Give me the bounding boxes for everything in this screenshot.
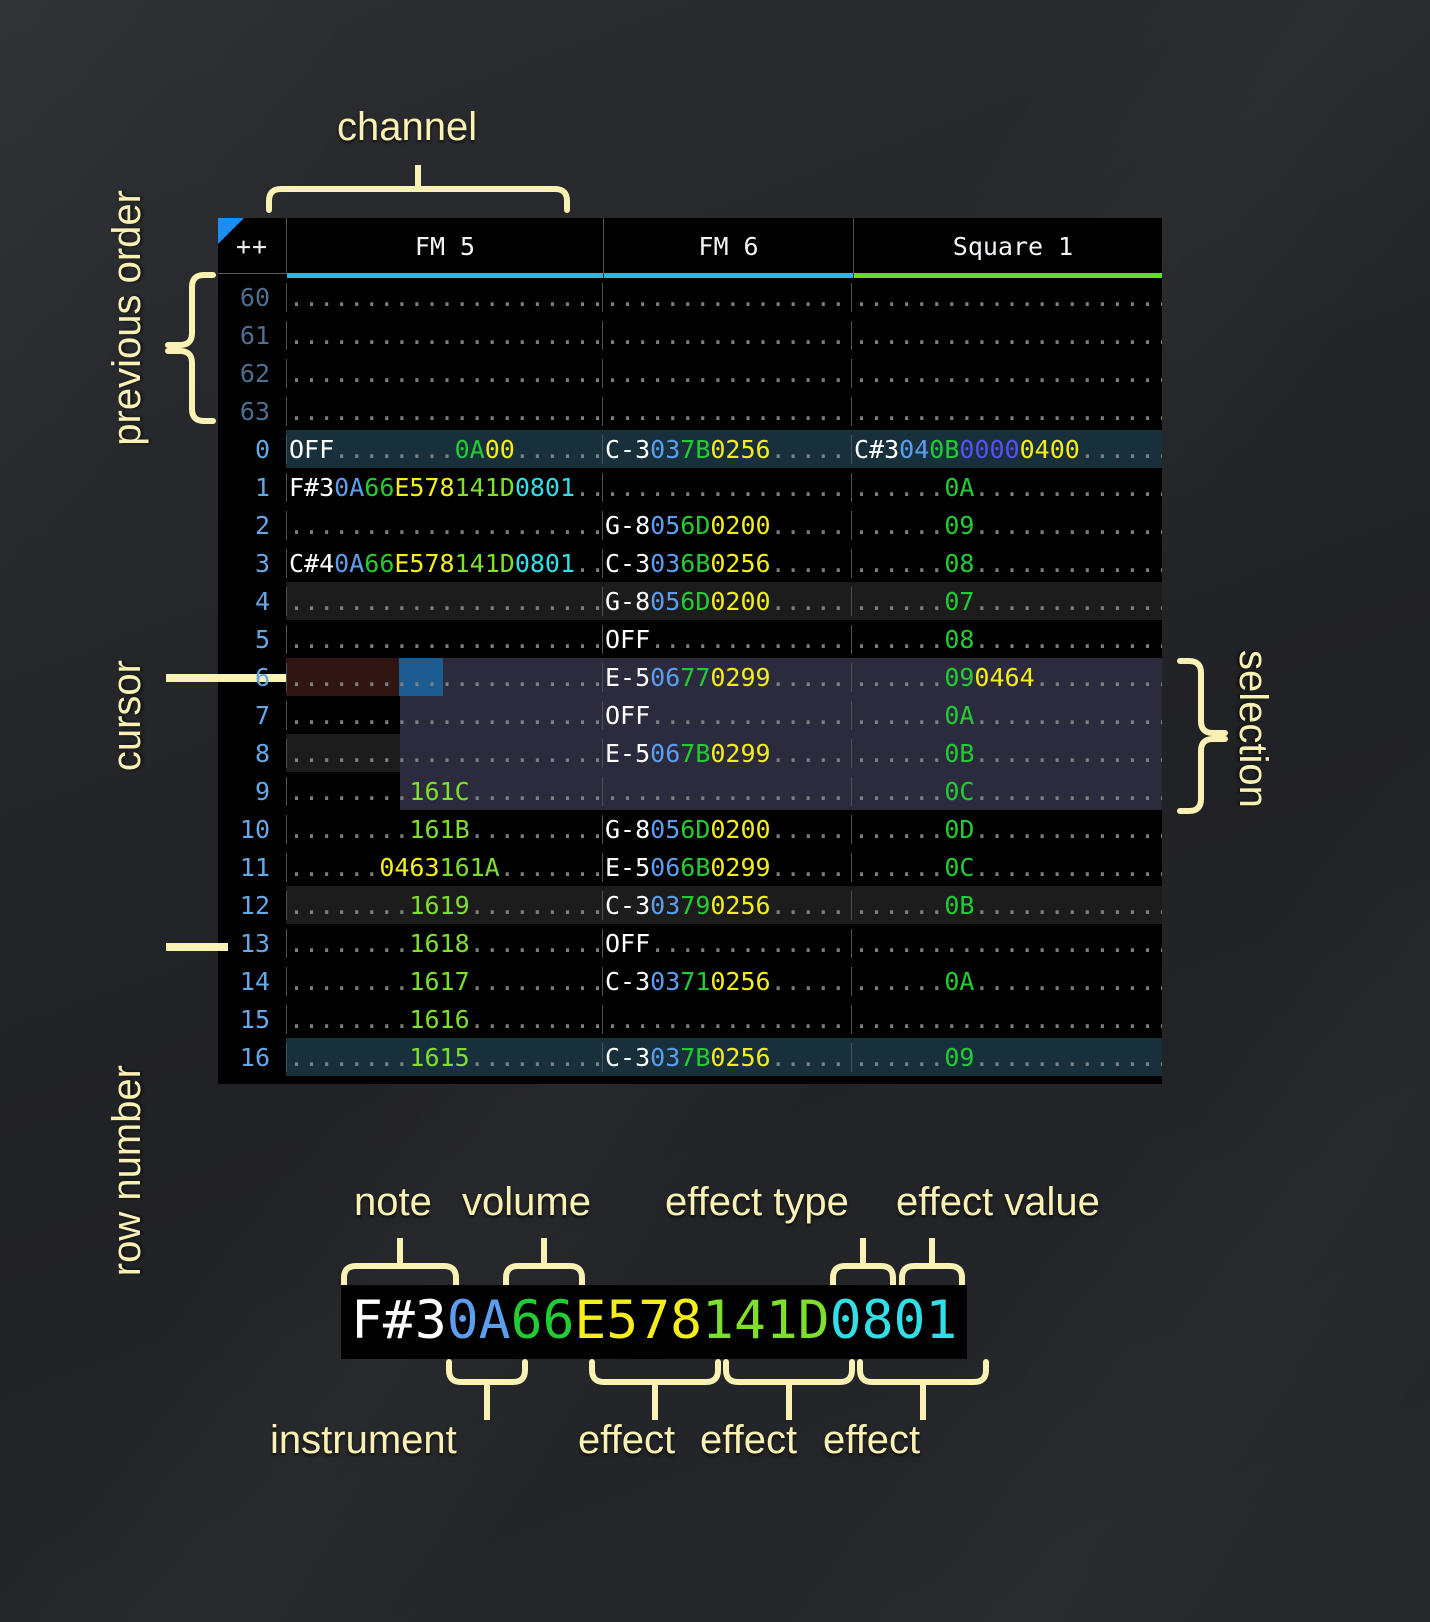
channel-name: FM 5 (415, 232, 475, 261)
empty-dots: ............. (974, 473, 1162, 502)
field-vol: 7B (680, 1043, 710, 1072)
field-fx1: 0200 (710, 587, 770, 616)
field-inst: 04 (899, 435, 929, 464)
field-inst: 05 (650, 815, 680, 844)
empty-dots: ..... (771, 1043, 846, 1072)
field-fx3: 0801 (515, 473, 575, 502)
field-fx1: 0400 (1020, 435, 1080, 464)
pattern-cell-ch1[interactable]: ........1617......... (286, 967, 602, 996)
field-inst: 03 (650, 435, 680, 464)
pattern-cell-ch3[interactable]: ......0B............. (851, 891, 1162, 920)
empty-dots: ......... (470, 967, 605, 996)
empty-dots: ...... (854, 739, 944, 768)
field-fx2: 161A (440, 853, 500, 882)
pattern-cell-ch1[interactable]: ........1616......... (286, 1005, 602, 1034)
field-fx2: 1615 (409, 1043, 469, 1072)
field-fx2: 1619 (409, 891, 469, 920)
bracket-effect-type (830, 1238, 896, 1288)
bracket-volume (503, 1238, 585, 1288)
table-row[interactable]: 0OFF........0A00......C-3037B0256.....C#… (218, 430, 1162, 468)
row-number: 10 (218, 815, 286, 844)
pattern-cell-ch2[interactable]: ................ (602, 359, 851, 388)
pattern-cell-ch1[interactable]: ..................... (286, 663, 602, 692)
field-fx1: 0256 (710, 549, 770, 578)
empty-dots: ............. (974, 1043, 1162, 1072)
label-effect-a: effect (578, 1418, 675, 1463)
legend-segment-volume: 66 (511, 1290, 575, 1351)
empty-dots: ........ (289, 929, 409, 958)
empty-dots: ...... (854, 473, 944, 502)
row-number: 14 (218, 967, 286, 996)
empty-dots: ............. (974, 625, 1162, 654)
legend-segment-instrument: 0A (447, 1290, 511, 1351)
pattern-cell-ch3[interactable]: ..................... (851, 397, 1162, 426)
field-note: C-3 (605, 549, 650, 578)
empty-dots: ................ (605, 359, 846, 388)
field-note: E-5 (605, 663, 650, 692)
field-fx1: 0299 (710, 739, 770, 768)
row-number: 6 (218, 663, 286, 692)
table-row[interactable]: 1F#30A66E578141D0801....................… (218, 468, 1162, 506)
empty-dots: ...... (854, 777, 944, 806)
field-fx2: 1617 (409, 967, 469, 996)
empty-dots: ........ (289, 1005, 409, 1034)
label-effect-c: effect (823, 1418, 920, 1463)
empty-dots: ........ (289, 891, 409, 920)
empty-dots: ..................... (854, 929, 1162, 958)
empty-dots: ........ (334, 435, 454, 464)
empty-dots: ..................... (289, 359, 605, 388)
row-number: 7 (218, 701, 286, 730)
field-fx1: 0256 (710, 891, 770, 920)
field-note: C-3 (605, 891, 650, 920)
empty-dots: ...... (1080, 435, 1162, 464)
pattern-cell-ch1[interactable]: ..................... (286, 701, 602, 730)
pattern-cell-ch1[interactable]: ..................... (286, 359, 602, 388)
field-vol: 0A (944, 701, 974, 730)
empty-dots: ....... (500, 853, 605, 882)
field-fx1: 00 (485, 435, 515, 464)
pattern-cell-ch2[interactable]: E-5066B0299..... (602, 853, 851, 882)
table-row[interactable]: 3C#40A66E578141D0801..C-3036B0256.......… (218, 544, 1162, 582)
legend-segment-note: F#3 (351, 1290, 447, 1351)
empty-dots: ..... (771, 739, 846, 768)
pattern-cell-ch2[interactable]: ................ (602, 777, 851, 806)
bracket-effect-a (589, 1362, 721, 1422)
field-note: G-8 (605, 511, 650, 540)
pattern-cell-ch3[interactable]: ......07............. (851, 587, 1162, 616)
empty-dots: ............. (974, 739, 1162, 768)
row-number: 16 (218, 1043, 286, 1072)
field-note: C-3 (605, 435, 650, 464)
empty-dots: ...... (854, 511, 944, 540)
field-note: C-3 (605, 1043, 650, 1072)
empty-dots: ..................... (289, 511, 605, 540)
channel-header-bar: ++ FM 5FM 6Square 1 (218, 218, 1162, 274)
pattern-cell-ch3[interactable]: ......0D............. (851, 815, 1162, 844)
row-number: 63 (218, 397, 286, 426)
field-fx3: 0801 (515, 549, 575, 578)
channel-header-2[interactable]: FM 6 (603, 218, 853, 274)
field-inst: 0A (334, 473, 364, 502)
pattern-cell-ch3[interactable]: ......0A............. (851, 701, 1162, 730)
row-number: 5 (218, 625, 286, 654)
table-row[interactable]: 2.....................G-8056D0200.......… (218, 506, 1162, 544)
field-fx1: E578 (394, 473, 454, 502)
empty-dots: ............. (974, 853, 1162, 882)
pattern-cell-ch1[interactable]: ........1618......... (286, 929, 602, 958)
empty-dots: ................ (605, 321, 846, 350)
bracket-effect-value (899, 1238, 965, 1288)
empty-dots: ............. (974, 511, 1162, 540)
empty-dots: ...... (854, 587, 944, 616)
row-number: 62 (218, 359, 286, 388)
table-row[interactable]: 62......................................… (218, 354, 1162, 392)
field-vol: 0A (455, 435, 485, 464)
field-vol: 7B (680, 739, 710, 768)
field-fx1: 0464 (974, 663, 1034, 692)
empty-dots: ............. (974, 967, 1162, 996)
label-note: note (354, 1180, 432, 1225)
pattern-cell-ch2[interactable]: OFF............. (602, 625, 851, 654)
pattern-cell-ch1[interactable]: ..................... (286, 739, 602, 768)
empty-dots: ......... (470, 1043, 605, 1072)
row-number: 4 (218, 587, 286, 616)
field-note: F#3 (289, 473, 334, 502)
field-vol: 09 (944, 511, 974, 540)
field-vol: 0A (944, 473, 974, 502)
row-number: 13 (218, 929, 286, 958)
empty-dots: ...... (854, 891, 944, 920)
pattern-cell-ch3[interactable]: ......08............. (851, 549, 1162, 578)
empty-dots: ..... (771, 435, 846, 464)
pattern-cell-ch2[interactable]: E-506770299..... (602, 663, 851, 692)
pattern-cell-ch3[interactable]: ......0A............. (851, 967, 1162, 996)
pattern-cell-ch3[interactable]: ......090464......... (851, 663, 1162, 692)
pattern-cell-ch2[interactable]: C-3036B0256..... (602, 549, 851, 578)
pattern-cell-ch2[interactable]: ................ (602, 321, 851, 350)
bracket-selection (1179, 658, 1225, 814)
field-inst: 03 (650, 967, 680, 996)
empty-dots: ..................... (854, 1005, 1162, 1034)
empty-dots: ........ (289, 1043, 409, 1072)
empty-dots: ................ (605, 777, 846, 806)
row-number: 8 (218, 739, 286, 768)
empty-dots: ..... (771, 853, 846, 882)
empty-dots: ..... (771, 511, 846, 540)
pattern-cell-ch1[interactable]: ........161B......... (286, 815, 602, 844)
row-number: 15 (218, 1005, 286, 1034)
field-vol: 7B (680, 435, 710, 464)
row-number-header: ++ (218, 232, 286, 261)
pattern-cell-ch2[interactable]: C-3037B0256..... (602, 1043, 851, 1072)
field-vol: 77 (680, 663, 710, 692)
channel-name: Square 1 (953, 232, 1073, 261)
table-row[interactable]: 7.....................OFF...............… (218, 696, 1162, 734)
label-row-number: row number (105, 1065, 150, 1276)
empty-dots: ................ (605, 283, 846, 312)
pattern-cell-ch2[interactable]: C-303710256..... (602, 967, 851, 996)
pattern-cell-ch2[interactable]: OFF............. (602, 701, 851, 730)
table-row[interactable]: 11......0463161A.......E-5066B0299......… (218, 848, 1162, 886)
empty-dots: ........ (289, 815, 409, 844)
table-row[interactable]: 4.....................G-8056D0200.......… (218, 582, 1162, 620)
empty-dots: ...... (854, 967, 944, 996)
field-fx1: E578 (394, 549, 454, 578)
row-number: 0 (218, 435, 286, 464)
field-fx2: 161B (409, 815, 469, 844)
empty-dots: ..................... (289, 587, 605, 616)
pattern-cell-ch3[interactable]: ..................... (851, 359, 1162, 388)
pattern-cell-ch3[interactable]: ......0A............. (851, 473, 1162, 502)
pattern-cell-ch1[interactable]: ..................... (286, 397, 602, 426)
field-note: OFF (605, 929, 650, 958)
empty-dots: ............. (974, 891, 1162, 920)
table-row[interactable]: 13........1618.........OFF..............… (218, 924, 1162, 962)
empty-dots: ............. (650, 929, 846, 958)
field-fx2: 161C (409, 777, 469, 806)
channel-header-1[interactable]: FM 5 (286, 218, 603, 274)
pattern-cell-ch3[interactable]: ......0B............. (851, 739, 1162, 768)
pattern-cell-ch2[interactable]: G-8056D0200..... (602, 587, 851, 616)
pattern-cell-ch3[interactable]: ......09............. (851, 511, 1162, 540)
pattern-cell-ch2[interactable]: E-5067B0299..... (602, 739, 851, 768)
pattern-cell-ch3[interactable]: ......0C............. (851, 777, 1162, 806)
legend-segment-effect_cyan: 0801 (830, 1290, 958, 1351)
field-vol: 71 (680, 967, 710, 996)
legend-segment-effect_yellow: E578 (574, 1290, 702, 1351)
pattern-cell-ch3[interactable]: ..................... (851, 929, 1162, 958)
pattern-cell-ch2[interactable]: C-303790256..... (602, 891, 851, 920)
empty-dots: .. (575, 549, 605, 578)
row-number: 3 (218, 549, 286, 578)
field-vol: 0B (944, 739, 974, 768)
table-row[interactable]: 12........1619.........C-303790256......… (218, 886, 1162, 924)
pattern-cell-ch3[interactable]: ......08............. (851, 625, 1162, 654)
table-row[interactable]: 63......................................… (218, 392, 1162, 430)
table-row[interactable]: 6.....................E-506770299.......… (218, 658, 1162, 696)
pattern-cell-ch2[interactable]: G-8056D0200..... (602, 815, 851, 844)
field-note: OFF (289, 435, 334, 464)
empty-dots: ...... (854, 815, 944, 844)
empty-dots: ............. (974, 777, 1162, 806)
field-vol: 0B (929, 435, 959, 464)
field-fx2: 141D (455, 473, 515, 502)
pattern-cell-ch3[interactable]: ..................... (851, 321, 1162, 350)
empty-dots: ..................... (854, 321, 1162, 350)
channel-name: FM 6 (698, 232, 758, 261)
bracket-previous-order (168, 272, 214, 424)
pattern-cell-ch1[interactable]: ..................... (286, 283, 602, 312)
pattern-cell-ch2[interactable]: G-8056D0200..... (602, 511, 851, 540)
bracket-note (341, 1238, 459, 1288)
field-fx1: 0299 (710, 663, 770, 692)
field-vol: 6B (680, 549, 710, 578)
field-vol: 6D (680, 815, 710, 844)
empty-dots: ...... (854, 663, 944, 692)
field-vol: 0C (944, 777, 974, 806)
pattern-cell-ch1[interactable]: ......0463161A....... (286, 853, 602, 882)
field-fx1: 0463 (379, 853, 439, 882)
pattern-editor[interactable]: ++ FM 5FM 6Square 1 60..................… (218, 218, 1162, 1084)
row-number: 1 (218, 473, 286, 502)
pattern-cell-ch2[interactable]: ................ (602, 397, 851, 426)
bracket-effect-c (857, 1362, 989, 1422)
legend-sample-cell: F#30A66E578141D0801 (341, 1285, 967, 1359)
pattern-cell-ch2[interactable]: C-3037B0256..... (602, 435, 851, 464)
table-row[interactable]: 9........161C...........................… (218, 772, 1162, 810)
label-channel: channel (337, 105, 477, 150)
field-fx1: 0256 (710, 435, 770, 464)
field-vol: 79 (680, 891, 710, 920)
pattern-cell-ch1[interactable]: ........161C......... (286, 777, 602, 806)
field-note: OFF (605, 701, 650, 730)
pattern-cell-ch1[interactable]: C#40A66E578141D0801.. (286, 549, 602, 578)
empty-dots: ............. (974, 549, 1162, 578)
field-inst: 0A (334, 549, 364, 578)
empty-dots: ............. (974, 815, 1162, 844)
empty-dots: ...... (854, 549, 944, 578)
field-vol: 0A (944, 967, 974, 996)
pattern-cell-ch1[interactable]: ........1615......... (286, 1043, 602, 1072)
field-fxp: 0000 (959, 435, 1019, 464)
empty-dots: ......... (470, 815, 605, 844)
field-fx2: 1616 (409, 1005, 469, 1034)
pattern-cell-ch1[interactable]: ..................... (286, 511, 602, 540)
field-vol: 6D (680, 511, 710, 540)
row-number: 60 (218, 283, 286, 312)
label-volume: volume (462, 1180, 591, 1225)
table-row[interactable]: 10........161B.........G-8056D0200......… (218, 810, 1162, 848)
field-note: E-5 (605, 853, 650, 882)
empty-dots: ..................... (289, 397, 605, 426)
pattern-cell-ch3[interactable]: ..................... (851, 283, 1162, 312)
field-vol: 66 (364, 549, 394, 578)
pattern-cell-ch3[interactable]: ..................... (851, 1005, 1162, 1034)
field-inst: 03 (650, 549, 680, 578)
pattern-cell-ch3[interactable]: ......0C............. (851, 853, 1162, 882)
table-row[interactable]: 8.....................E-5067B0299.......… (218, 734, 1162, 772)
empty-dots: ...... (515, 435, 605, 464)
empty-dots: ..................... (289, 701, 605, 730)
field-note: G-8 (605, 815, 650, 844)
field-vol: 07 (944, 587, 974, 616)
empty-dots: ..................... (289, 283, 605, 312)
pattern-cell-ch2[interactable]: ................ (602, 1005, 851, 1034)
empty-dots: ........ (289, 777, 409, 806)
empty-dots: .. (575, 473, 605, 502)
pattern-cell-ch3[interactable]: ......09............. (851, 1043, 1162, 1072)
bracket-effect-b (723, 1362, 855, 1422)
field-fx2: 141D (455, 549, 515, 578)
empty-dots: ..... (771, 815, 846, 844)
field-note: OFF (605, 625, 650, 654)
pattern-cell-ch3[interactable]: C#3040B00000400...... (851, 435, 1162, 464)
bracket-channel (266, 165, 570, 211)
row-number: 12 (218, 891, 286, 920)
empty-dots: ......... (470, 891, 605, 920)
field-inst: 06 (650, 739, 680, 768)
label-effect-type: effect type (665, 1180, 849, 1225)
pattern-cell-ch1[interactable]: OFF........0A00...... (286, 435, 602, 464)
table-row[interactable]: 60......................................… (218, 278, 1162, 316)
row-number: 9 (218, 777, 286, 806)
empty-dots: ...... (854, 701, 944, 730)
label-instrument: instrument (270, 1418, 457, 1463)
empty-dots: ..................... (854, 359, 1162, 388)
field-fx1: 0299 (710, 853, 770, 882)
row-number: 2 (218, 511, 286, 540)
pattern-cell-ch1[interactable]: ..................... (286, 625, 602, 654)
field-fx1: 0200 (710, 511, 770, 540)
bracket-instrument (446, 1362, 528, 1422)
field-fx1: 0200 (710, 815, 770, 844)
empty-dots: ...... (289, 853, 379, 882)
empty-dots: ..... (771, 663, 846, 692)
label-effect-value: effect value (896, 1180, 1100, 1225)
table-row[interactable]: 14........1617.........C-303710256......… (218, 962, 1162, 1000)
field-inst: 03 (650, 891, 680, 920)
empty-dots: ......... (1035, 663, 1162, 692)
table-row[interactable]: 61......................................… (218, 316, 1162, 354)
row-number: 11 (218, 853, 286, 882)
field-fx1: 0256 (710, 1043, 770, 1072)
table-row[interactable]: 15........1616..........................… (218, 1000, 1162, 1038)
field-vol: 09 (944, 663, 974, 692)
field-inst: 05 (650, 587, 680, 616)
empty-dots: ................ (605, 397, 846, 426)
pattern-cell-ch1[interactable]: F#30A66E578141D0801.. (286, 473, 602, 502)
row-number: 61 (218, 321, 286, 350)
pattern-cell-ch1[interactable]: ..................... (286, 321, 602, 350)
field-vol: 08 (944, 625, 974, 654)
field-vol: 0C (944, 853, 974, 882)
table-row[interactable]: 5.....................OFF...............… (218, 620, 1162, 658)
pattern-rows[interactable]: 60......................................… (218, 278, 1162, 1076)
field-inst: 05 (650, 511, 680, 540)
pattern-cell-ch1[interactable]: ........1619......... (286, 891, 602, 920)
pattern-cell-ch2[interactable]: ................ (602, 283, 851, 312)
empty-dots: ............. (974, 587, 1162, 616)
empty-dots: ............. (650, 701, 846, 730)
field-fx1: 0256 (710, 967, 770, 996)
empty-dots: ......... (470, 929, 605, 958)
field-note: C#4 (289, 549, 334, 578)
table-row[interactable]: 16........1615.........C-3037B0256......… (218, 1038, 1162, 1076)
empty-dots: ................ (605, 1005, 846, 1034)
empty-dots: ......... (470, 777, 605, 806)
empty-dots: ..... (771, 891, 846, 920)
empty-dots: ............. (974, 701, 1162, 730)
field-note: E-5 (605, 739, 650, 768)
field-vol: 08 (944, 549, 974, 578)
field-note: C-3 (605, 967, 650, 996)
empty-dots: ................ (605, 473, 846, 502)
field-vol: 6B (680, 853, 710, 882)
field-note: C#3 (854, 435, 899, 464)
legend-segment-effect_lime: 141D (702, 1290, 830, 1351)
empty-dots: ..................... (854, 397, 1162, 426)
field-note: G-8 (605, 587, 650, 616)
empty-dots: ........ (289, 967, 409, 996)
pattern-cell-ch2[interactable]: ................ (602, 473, 851, 502)
field-vol: 0B (944, 891, 974, 920)
pattern-cell-ch2[interactable]: OFF............. (602, 929, 851, 958)
empty-dots: ..................... (289, 663, 605, 692)
pattern-cell-ch1[interactable]: ..................... (286, 587, 602, 616)
channel-header-3[interactable]: Square 1 (853, 218, 1162, 274)
field-inst: 06 (650, 663, 680, 692)
